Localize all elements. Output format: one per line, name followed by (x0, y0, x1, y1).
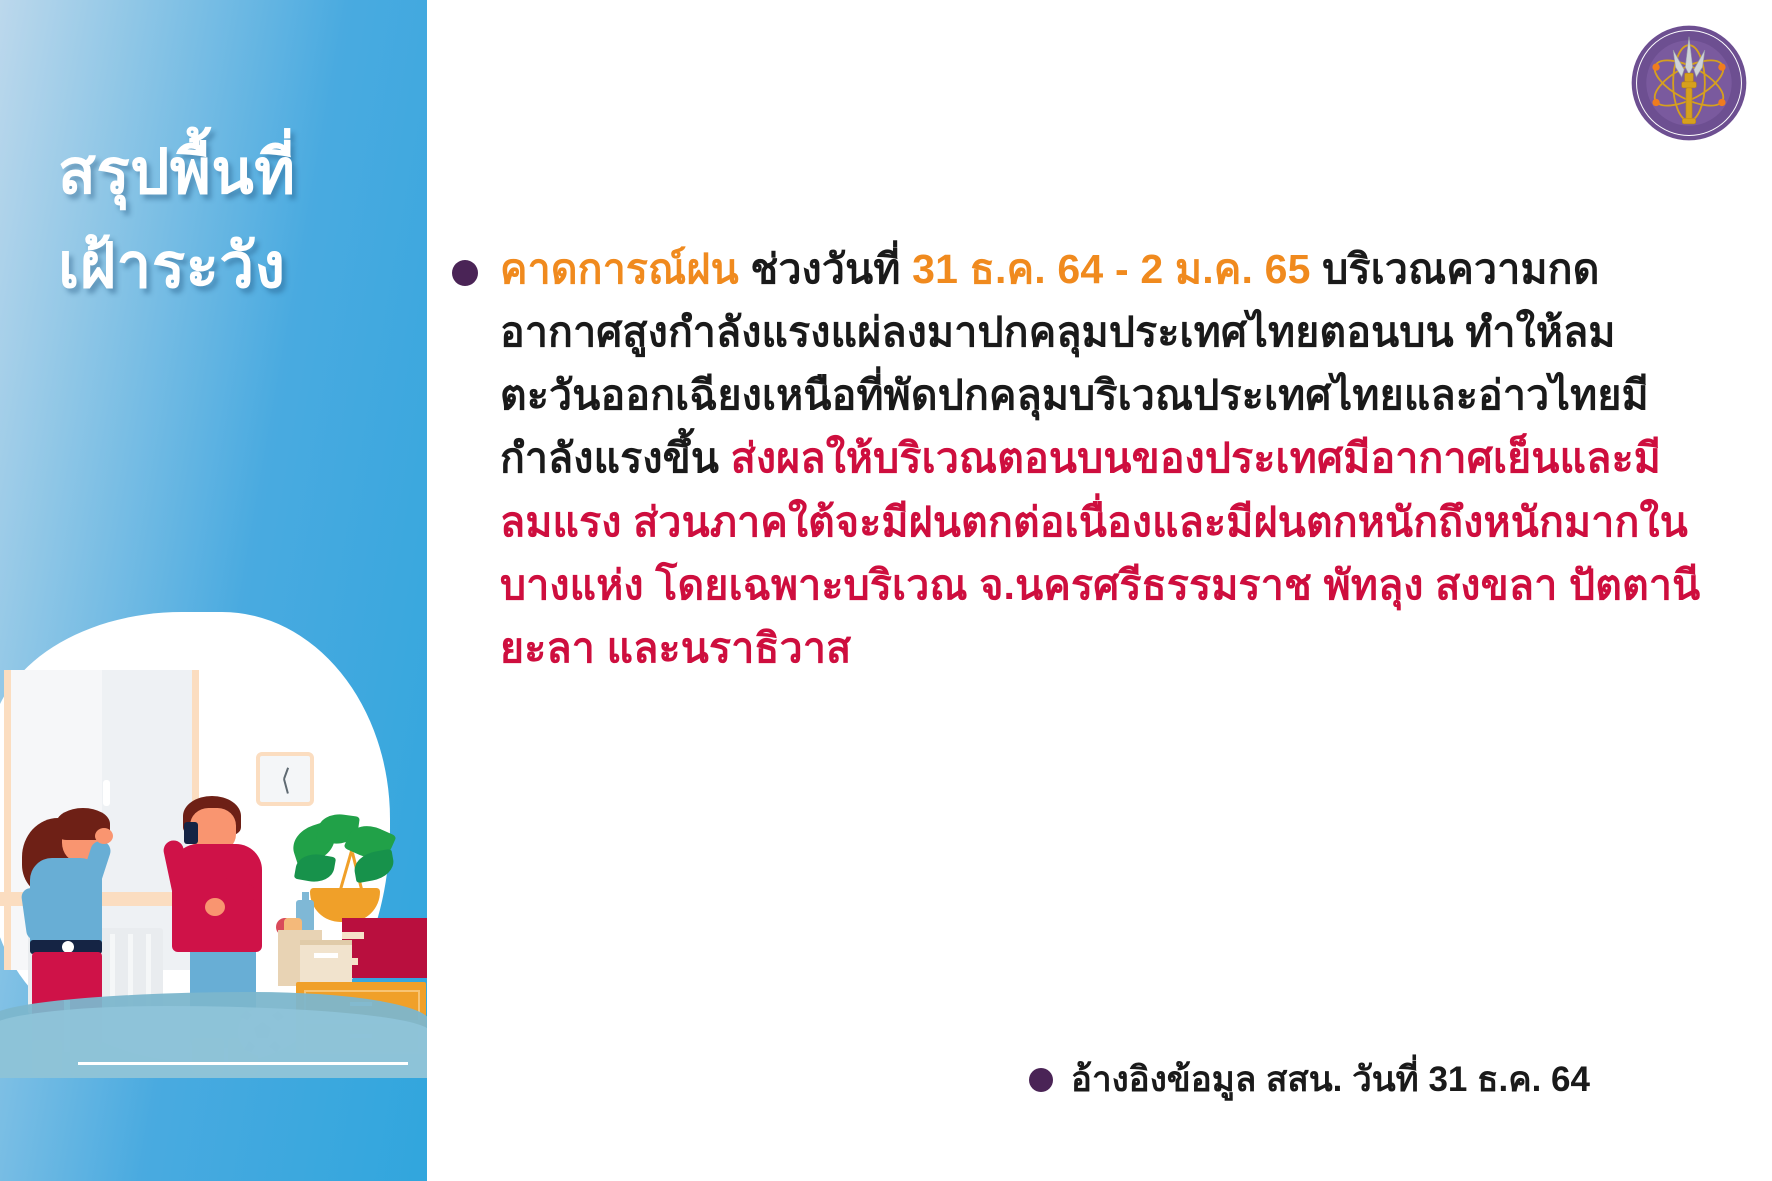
people-in-room-illustration (0, 600, 427, 1070)
text-segment-0: คาดการณ์ฝน (500, 246, 739, 292)
forecast-paragraph: คาดการณ์ฝน ช่วงวันที่ 31 ธ.ค. 64 - 2 ม.ค… (452, 238, 1712, 680)
panel-divider (78, 1062, 408, 1065)
mhesi-ministry-seal-logo: · · · (1628, 22, 1750, 144)
svg-text:· · ·: · · · (1685, 28, 1692, 33)
water-wave-front (0, 1006, 427, 1078)
source-footer: อ้างอิงข้อมูล สสน. วันที่ 31 ธ.ค. 64 (1029, 1052, 1590, 1107)
text-segment-2: 31 ธ.ค. 64 - 2 ม.ค. 65 (912, 246, 1311, 292)
source-reference-text: อ้างอิงข้อมูล สสน. วันที่ 31 ธ.ค. 64 (1071, 1052, 1590, 1107)
main-bullet-icon (452, 260, 478, 286)
window-latch-icon (103, 780, 110, 806)
red-box (342, 918, 427, 978)
slide-canvas: สรุปพื้นที่ เฝ้าระวัง (0, 0, 1772, 1181)
wall-clock-icon (256, 752, 314, 806)
phone-icon (184, 822, 198, 844)
main-content-block: คาดการณ์ฝน ช่วงวันที่ 31 ธ.ค. 64 - 2 ม.ค… (452, 238, 1712, 680)
page-title: สรุปพื้นที่ เฝ้าระวัง (58, 126, 418, 314)
woman-hand (95, 828, 113, 844)
footer-bullet-icon (1029, 1068, 1053, 1092)
text-segment-1: ช่วงวันที่ (739, 246, 912, 292)
left-title-panel: สรุปพื้นที่ เฝ้าระวัง (0, 0, 427, 1181)
man-hand (205, 898, 225, 916)
